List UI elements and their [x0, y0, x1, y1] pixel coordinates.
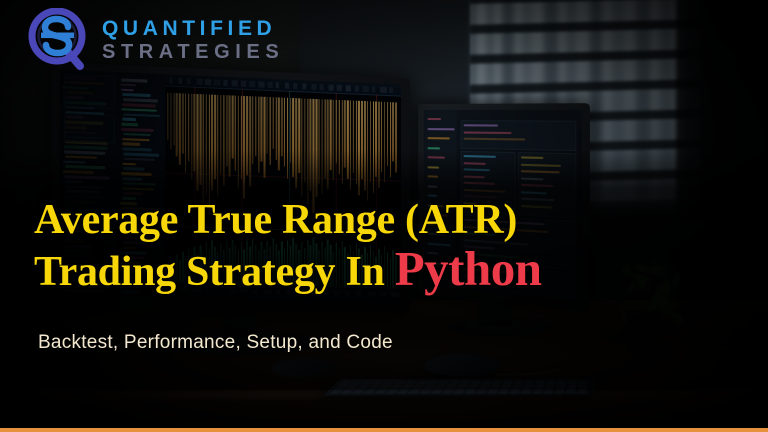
quantified-strategies-q-s-monogram-icon [28, 8, 90, 72]
page-subtitle: Backtest, Performance, Setup, and Code [38, 332, 393, 354]
page-title: Average True Range (ATR) Trading Strateg… [34, 198, 734, 295]
title-line-2-prefix: Trading Strategy In [34, 249, 395, 295]
title-line-2: Trading Strategy In Python [34, 243, 734, 295]
brand-name-line1: QUANTIFIED [102, 18, 284, 39]
brand-wordmark: QUANTIFIED STRATEGIES [102, 18, 284, 62]
brand-logo[interactable]: QUANTIFIED STRATEGIES [28, 8, 284, 72]
title-highlight-python: Python [395, 241, 542, 296]
bottom-accent-bar [0, 428, 768, 432]
thumbnail-canvas: QUANTIFIED STRATEGIES Average True Range… [0, 0, 768, 432]
title-line-1: Average True Range (ATR) [34, 198, 734, 243]
brand-name-line2: STRATEGIES [102, 42, 284, 62]
overlay-content: QUANTIFIED STRATEGIES Average True Range… [0, 0, 768, 432]
